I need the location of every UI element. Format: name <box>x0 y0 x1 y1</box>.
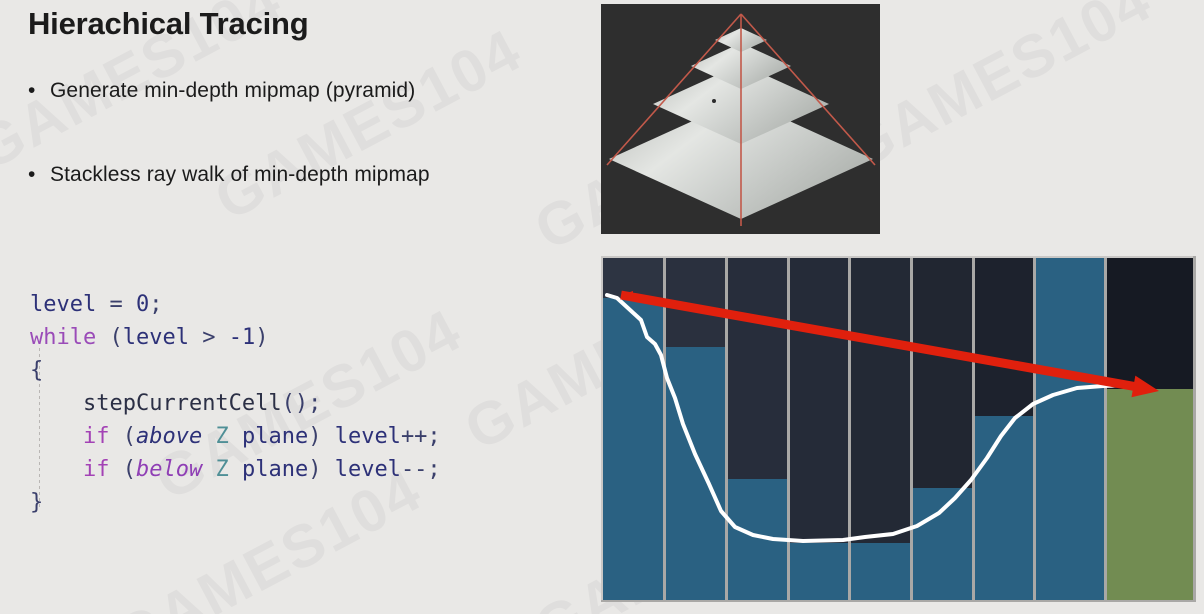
code-token <box>30 457 83 482</box>
code-token: (); <box>282 391 322 416</box>
code-token: ) <box>308 424 335 449</box>
code-token: ) <box>308 457 335 482</box>
code-line: level = 0; <box>30 288 441 321</box>
code-token: = <box>109 292 122 317</box>
code-token: > <box>202 325 215 350</box>
code-token: { <box>30 358 43 383</box>
code-token: Z <box>215 424 228 449</box>
code-token: plane <box>242 457 308 482</box>
mipmap-pyramid-figure <box>601 4 880 234</box>
code-token: ; <box>149 292 162 317</box>
bullet-label: Stackless ray walk of min-depth mipmap <box>50 162 430 188</box>
bullet-label: Generate min-depth mipmap (pyramid) <box>50 78 415 104</box>
code-token: ++; <box>401 424 441 449</box>
code-token: 0 <box>136 292 149 317</box>
code-line: } <box>30 486 441 519</box>
slide-left-column: Hierachical Tracing • Generate min-depth… <box>0 0 600 614</box>
code-line: while (level > -1) <box>30 321 441 354</box>
code-line: { <box>30 354 441 387</box>
ray-walk-figure <box>601 256 1196 602</box>
code-token <box>202 457 215 482</box>
code-token <box>30 424 83 449</box>
code-line: stepCurrentCell(); <box>30 387 441 420</box>
code-token: level <box>30 292 96 317</box>
code-token: while <box>30 325 96 350</box>
code-token: ) <box>255 325 268 350</box>
code-token <box>123 292 136 317</box>
code-token: ( <box>96 325 123 350</box>
bullet-dot-icon: • <box>28 162 50 188</box>
code-token <box>202 424 215 449</box>
code-token: level <box>123 325 189 350</box>
list-item: • Generate min-depth mipmap (pyramid) <box>28 78 588 104</box>
code-snippet: level = 0;while (level > -1){ stepCurren… <box>30 288 441 519</box>
mipmap-sample-dot <box>712 99 716 103</box>
code-token: Z <box>215 457 228 482</box>
code-token: if <box>83 424 110 449</box>
depth-terrain-curve <box>607 295 1133 541</box>
ray-arrowhead-icon <box>1131 376 1159 398</box>
code-token <box>96 292 109 317</box>
code-token: --; <box>401 457 441 482</box>
figure-border-bottom <box>601 600 1196 602</box>
code-token: ( <box>109 424 136 449</box>
ray-line <box>621 295 1143 388</box>
ray-walk-overlay-svg <box>603 258 1194 600</box>
code-line: if (above Z plane) level++; <box>30 420 441 453</box>
bullet-list: • Generate min-depth mipmap (pyramid) • … <box>28 78 588 246</box>
code-token: level <box>335 457 401 482</box>
mipmap-pyramid-svg <box>601 4 880 234</box>
code-token: below <box>136 457 202 482</box>
code-token: if <box>83 457 110 482</box>
code-token <box>229 424 242 449</box>
figure-border-right <box>1193 256 1196 602</box>
ray-walk-canvas <box>603 258 1194 600</box>
code-token: } <box>30 490 43 515</box>
code-line: if (below Z plane) level--; <box>30 453 441 486</box>
bullet-dot-icon: • <box>28 78 50 104</box>
code-token <box>229 457 242 482</box>
code-token: stepCurrentCell <box>83 391 282 416</box>
list-item: • Stackless ray walk of min-depth mipmap <box>28 162 588 188</box>
code-token: plane <box>242 424 308 449</box>
page-title: Hierachical Tracing <box>28 6 309 42</box>
watermark-text: GAMES104 <box>833 0 1162 184</box>
code-token: above <box>136 424 202 449</box>
code-token: -1 <box>229 325 256 350</box>
code-token <box>215 325 228 350</box>
code-token <box>189 325 202 350</box>
code-token: level <box>335 424 401 449</box>
code-token: ( <box>109 457 136 482</box>
code-token <box>30 391 83 416</box>
